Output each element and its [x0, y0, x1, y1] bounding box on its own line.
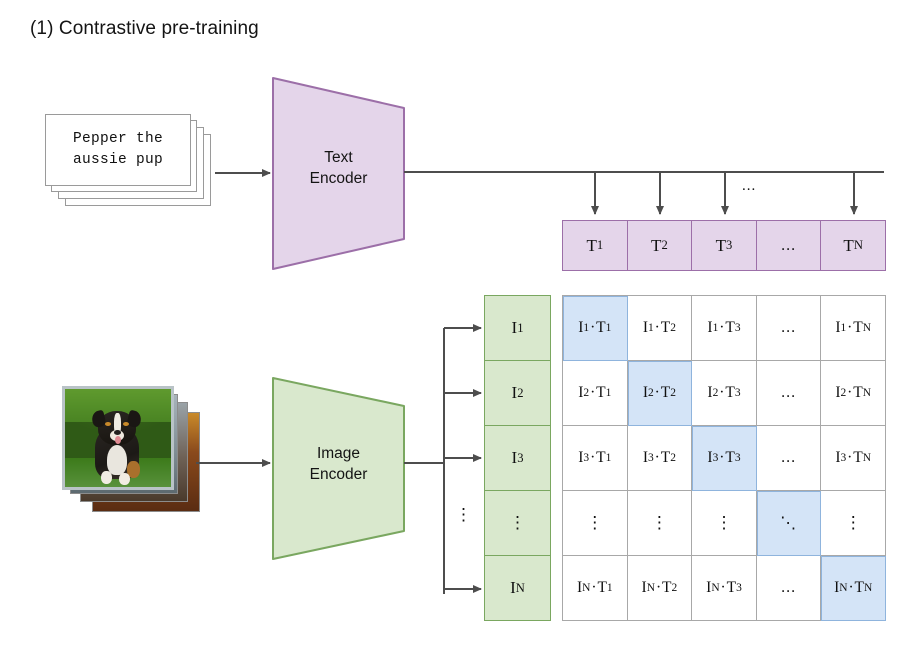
text-embedding-subscript: 2 — [661, 238, 667, 253]
horizontal-ellipsis: ... — [781, 237, 796, 255]
image-embedding-subscript: 1 — [517, 321, 523, 336]
text-embedding-label: T — [716, 236, 726, 256]
image-embedding-cell-in: IN — [485, 556, 550, 620]
similarity-cell-hdots-r2c4: ... — [757, 361, 822, 426]
similarity-cell-hdots-r3c4: ... — [757, 426, 822, 491]
similarity-cell-iN-t1: IN·T1 — [563, 556, 628, 621]
puppy-photo — [65, 389, 171, 487]
cell-text-token: T — [661, 384, 670, 402]
text-embedding-cell-t3: T3 — [692, 221, 757, 270]
image-embedding-cell-i2: I2 — [485, 361, 550, 426]
cell-image-subscript: N — [647, 582, 655, 594]
hdots-glyph: ... — [781, 579, 796, 597]
similarity-cell-i1-t3: I1·T3 — [692, 296, 757, 361]
dot-product-icon: · — [590, 579, 597, 597]
text-embedding-subscript: N — [854, 238, 863, 253]
cell-text-subscript: 3 — [736, 582, 742, 594]
text-embedding-cell-ellipsis: ... — [757, 221, 822, 270]
similarity-cell-vdots-r4c1: ⋮ — [563, 491, 628, 556]
text-bus-ellipsis: ... — [742, 178, 756, 195]
photo-card-front — [62, 386, 174, 490]
cell-text-token: T — [725, 449, 734, 467]
cell-text-token: T — [661, 449, 670, 467]
similarity-cell-hdots-r1c4: ... — [757, 296, 822, 361]
dot-product-icon: · — [589, 449, 596, 467]
similarity-cell-i2-t2: I2·T2 — [628, 361, 693, 426]
similarity-cell-i3-t2: I3·T2 — [628, 426, 693, 491]
ddots-glyph: ⋱ — [780, 513, 797, 533]
cell-text-token: T — [853, 384, 862, 402]
text-embedding-label: T — [843, 236, 853, 256]
dot-product-icon: · — [848, 579, 855, 597]
dot-product-icon: · — [846, 319, 853, 337]
similarity-cell-i3-t1: I3·T1 — [563, 426, 628, 491]
similarity-cell-iN-t3: IN·T3 — [692, 556, 757, 621]
image-embedding-column: I1I2I3⋮IN — [484, 295, 551, 621]
text-embedding-cell-tn: TN — [821, 221, 885, 270]
vertical-ellipsis: ⋮ — [509, 513, 526, 533]
similarity-cell-hdots-r5c4: ... — [757, 556, 822, 621]
image-embedding-cell-i3: I3 — [485, 426, 550, 491]
cell-text-token: T — [597, 579, 606, 597]
similarity-cell-i1-t2: I1·T2 — [628, 296, 693, 361]
text-embedding-subscript: 1 — [597, 238, 603, 253]
cell-text-subscript: 2 — [670, 452, 676, 464]
similarity-cell-vdots-r4c2: ⋮ — [628, 491, 693, 556]
cell-text-subscript: 2 — [672, 582, 678, 594]
dot-product-icon: · — [718, 449, 725, 467]
cell-text-subscript: 1 — [606, 387, 612, 399]
text-embedding-cell-t1: T1 — [563, 221, 628, 270]
cell-text-subscript: 3 — [735, 387, 741, 399]
hdots-glyph: ... — [781, 319, 796, 337]
hdots-glyph: ... — [781, 384, 796, 402]
vdots-glyph: ⋮ — [715, 513, 732, 533]
text-card-front — [45, 114, 191, 186]
similarity-cell-i3-t3: I3·T3 — [692, 426, 757, 491]
similarity-cell-i2-t1: I2·T1 — [563, 361, 628, 426]
image-embedding-subscript: 2 — [517, 386, 523, 401]
cell-text-token: T — [855, 579, 864, 597]
cell-text-subscript: 2 — [670, 387, 676, 399]
vdots-glyph: ⋮ — [651, 513, 668, 533]
text-embedding-row: T1T2T3...TN — [562, 220, 886, 271]
cell-text-token: T — [596, 319, 605, 337]
dot-product-icon: · — [589, 384, 596, 402]
dot-product-icon: · — [720, 579, 727, 597]
cell-text-subscript: N — [864, 582, 872, 594]
image-embedding-subscript: 3 — [517, 451, 523, 466]
similarity-cell-i2-t3: I2·T3 — [692, 361, 757, 426]
similarity-cell-iN-t2: IN·T2 — [628, 556, 693, 621]
cell-text-token: T — [662, 579, 671, 597]
dot-product-icon: · — [655, 579, 662, 597]
dot-product-icon: · — [654, 319, 661, 337]
cell-text-token: T — [661, 319, 670, 337]
similarity-cell-i3-tN: I3·TN — [821, 426, 886, 491]
cell-text-token: T — [725, 384, 734, 402]
cell-text-token: T — [727, 579, 736, 597]
image-embedding-subscript: N — [516, 581, 525, 596]
similarity-cell-i2-tN: I2·TN — [821, 361, 886, 426]
cell-text-subscript: 2 — [670, 322, 676, 334]
cell-text-subscript: 3 — [735, 452, 741, 464]
cell-text-subscript: 1 — [606, 452, 612, 464]
similarity-cell-i1-t1: I1·T1 — [563, 296, 628, 361]
similarity-cell-vdots-r4c5: ⋮ — [821, 491, 886, 556]
similarity-cell-vdots-r4c3: ⋮ — [692, 491, 757, 556]
image-embedding-cell-ellipsis: ⋮ — [485, 491, 550, 556]
cell-text-subscript: N — [863, 387, 871, 399]
text-embedding-subscript: 3 — [726, 238, 732, 253]
cell-text-subscript: 1 — [607, 582, 613, 594]
cell-text-token: T — [596, 384, 605, 402]
similarity-cell-ddots-r4c4: ⋱ — [757, 491, 822, 556]
image-bus-ellipsis: ⋮ — [455, 505, 472, 525]
dot-product-icon: · — [654, 384, 661, 402]
similarity-cell-i1-tN: I1·TN — [821, 296, 886, 361]
dot-product-icon: · — [846, 384, 853, 402]
cell-text-token: T — [725, 319, 734, 337]
text-embedding-cell-t2: T2 — [628, 221, 693, 270]
similarity-matrix: I1·T1I1·T2I1·T3...I1·TNI2·T1I2·T2I2·T3..… — [562, 295, 886, 621]
similarity-cell-iN-tN: IN·TN — [821, 556, 886, 621]
dot-product-icon: · — [846, 449, 853, 467]
dot-product-icon: · — [718, 384, 725, 402]
cell-text-token: T — [853, 449, 862, 467]
image-embedding-cell-i1: I1 — [485, 296, 550, 361]
diagram-canvas: (1) Contrastive pre-training Pepper the … — [0, 0, 906, 654]
text-embedding-label: T — [586, 236, 596, 256]
text-embedding-label: T — [651, 236, 661, 256]
cell-text-subscript: 1 — [606, 322, 612, 334]
dot-product-icon: · — [654, 449, 661, 467]
cell-text-token: T — [596, 449, 605, 467]
cell-text-subscript: 3 — [735, 322, 741, 334]
cell-image-subscript: N — [582, 582, 590, 594]
cell-text-token: T — [853, 319, 862, 337]
vdots-glyph: ⋮ — [586, 513, 603, 533]
cell-text-subscript: N — [863, 322, 871, 334]
hdots-glyph: ... — [781, 449, 796, 467]
cell-image-subscript: N — [711, 582, 719, 594]
vdots-glyph: ⋮ — [845, 513, 862, 533]
cell-image-subscript: N — [839, 582, 847, 594]
dot-product-icon: · — [718, 319, 725, 337]
cell-text-subscript: N — [863, 452, 871, 464]
dot-product-icon: · — [589, 319, 596, 337]
